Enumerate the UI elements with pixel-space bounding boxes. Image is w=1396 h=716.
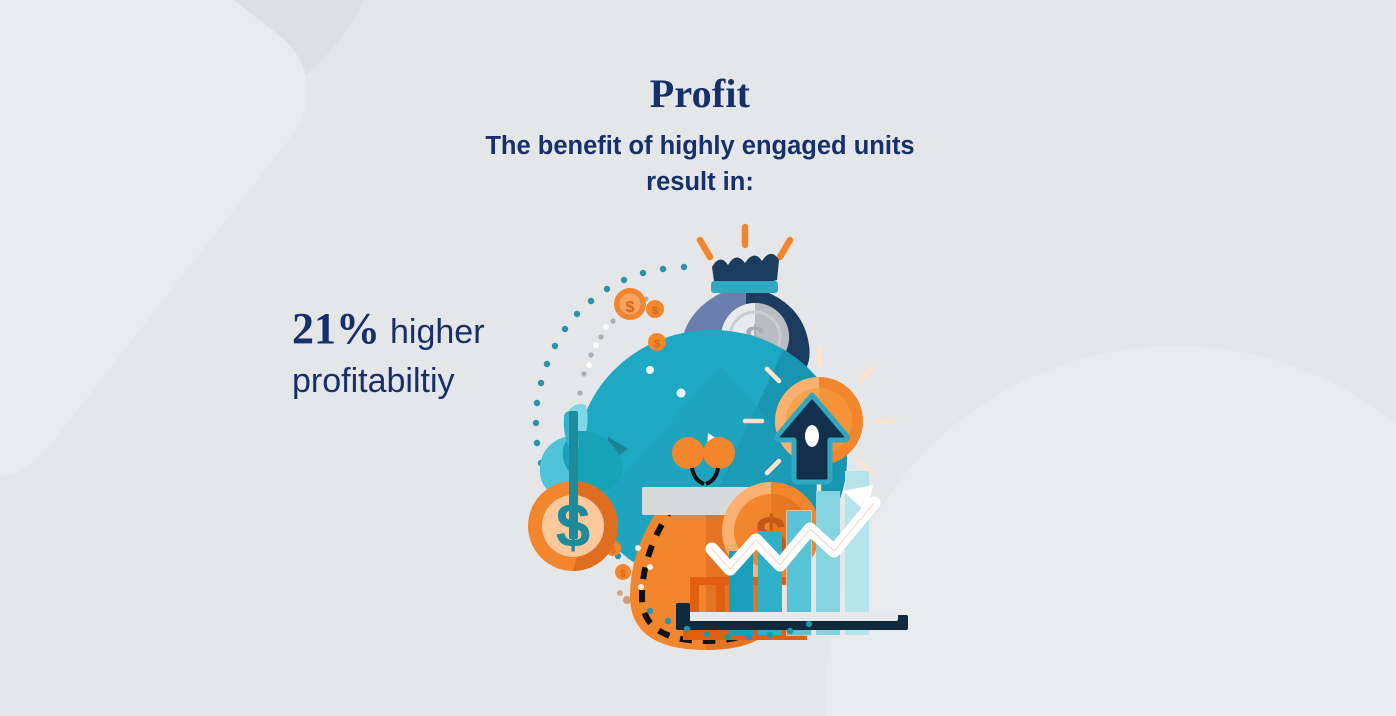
arrow-highlight [805, 425, 819, 447]
floating-coin-1: $ [614, 288, 646, 320]
page-title: Profit [470, 74, 930, 114]
svg-text:$: $ [620, 569, 626, 580]
purse-handle-knob-left [672, 437, 704, 469]
plant-coin-symbol: $ [556, 492, 590, 561]
money-bag-rays [700, 227, 790, 257]
floating-coin-5: $ [615, 564, 631, 580]
svg-text:$: $ [654, 338, 660, 350]
svg-text:$: $ [652, 305, 658, 317]
header-block: Profit The benefit of highly engaged uni… [470, 74, 930, 200]
floating-coin-3: $ [648, 333, 666, 351]
stat-percent-value: 21% [292, 304, 380, 353]
svg-text:$: $ [626, 299, 635, 316]
profit-growth-illustration: $ [490, 215, 930, 655]
money-bag-band [711, 281, 778, 293]
stat-qualifier: higher [380, 313, 485, 351]
floating-coin-2: $ [646, 300, 664, 318]
money-bag-top [712, 254, 779, 285]
purse-handle-knob-right [703, 437, 735, 469]
slide-canvas: Profit The benefit of highly engaged uni… [0, 0, 1396, 716]
page-subtitle: The benefit of highly engaged units resu… [470, 128, 930, 200]
background-card-left [0, 0, 336, 505]
